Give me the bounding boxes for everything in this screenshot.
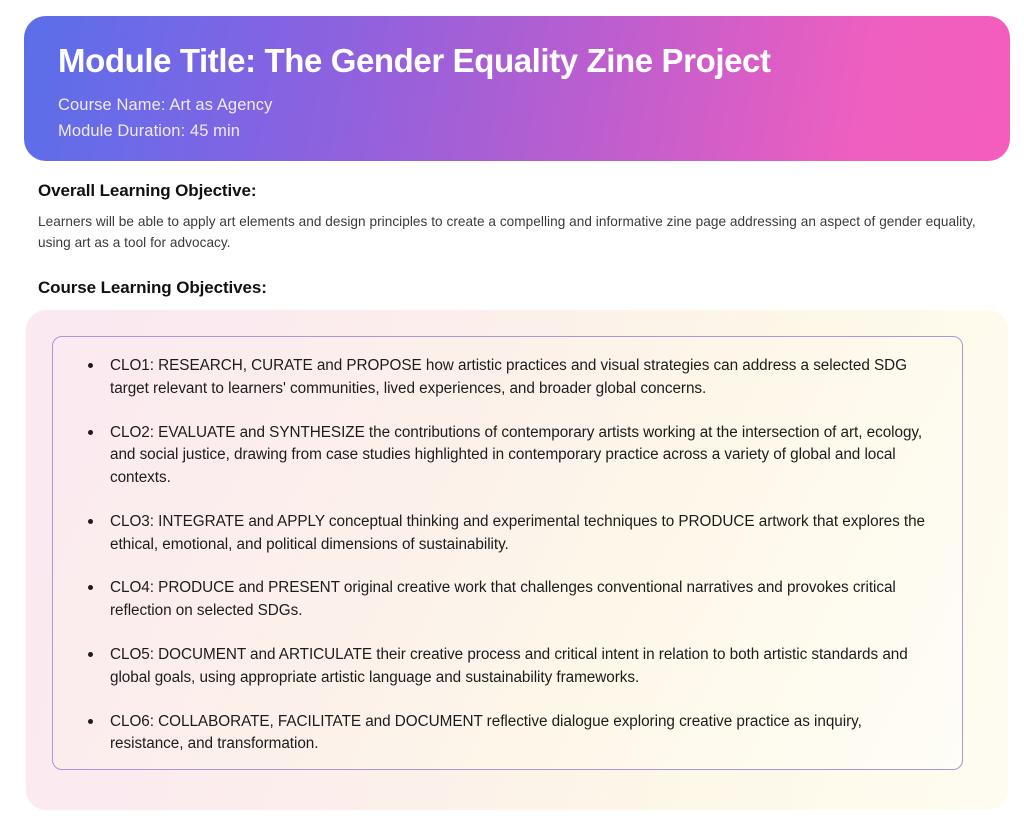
- module-title: Module Title: The Gender Equality Zine P…: [58, 42, 976, 80]
- list-item: CLO6: COLLABORATE, FACILITATE and DOCUME…: [79, 711, 936, 757]
- bullet-icon: [88, 519, 93, 524]
- list-item: CLO2: EVALUATE and SYNTHESIZE the contri…: [79, 422, 936, 490]
- course-objectives-card: CLO1: RESEARCH, CURATE and PROPOSE how a…: [52, 336, 963, 770]
- module-overview-page: Module Title: The Gender Equality Zine P…: [0, 0, 1024, 819]
- bullet-icon: [88, 363, 93, 368]
- module-duration: Module Duration: 45 min: [58, 119, 976, 145]
- clo6-text: CLO6: COLLABORATE, FACILITATE and DOCUME…: [110, 713, 862, 753]
- course-objectives-list: CLO1: RESEARCH, CURATE and PROPOSE how a…: [79, 355, 936, 756]
- bullet-icon: [88, 430, 93, 435]
- bullet-icon: [88, 719, 93, 724]
- overall-objective-heading: Overall Learning Objective:: [38, 181, 256, 201]
- list-item: CLO4: PRODUCE and PRESENT original creat…: [79, 577, 936, 623]
- list-item: CLO1: RESEARCH, CURATE and PROPOSE how a…: [79, 355, 936, 401]
- bullet-icon: [88, 652, 93, 657]
- clo4-text: CLO4: PRODUCE and PRESENT original creat…: [110, 579, 896, 619]
- course-name: Course Name: Art as Agency: [58, 93, 976, 119]
- clo1-text: CLO1: RESEARCH, CURATE and PROPOSE how a…: [110, 357, 907, 397]
- list-item: CLO5: DOCUMENT and ARTICULATE their crea…: [79, 644, 936, 690]
- clo5-text: CLO5: DOCUMENT and ARTICULATE their crea…: [110, 646, 908, 686]
- module-header-banner: Module Title: The Gender Equality Zine P…: [24, 16, 1010, 161]
- clo2-text: CLO2: EVALUATE and SYNTHESIZE the contri…: [110, 424, 922, 487]
- course-objectives-heading: Course Learning Objectives:: [38, 278, 267, 298]
- overall-objective-text: Learners will be able to apply art eleme…: [38, 211, 996, 254]
- clo3-text: CLO3: INTEGRATE and APPLY conceptual thi…: [110, 513, 925, 553]
- bullet-icon: [88, 585, 93, 590]
- list-item: CLO3: INTEGRATE and APPLY conceptual thi…: [79, 511, 936, 557]
